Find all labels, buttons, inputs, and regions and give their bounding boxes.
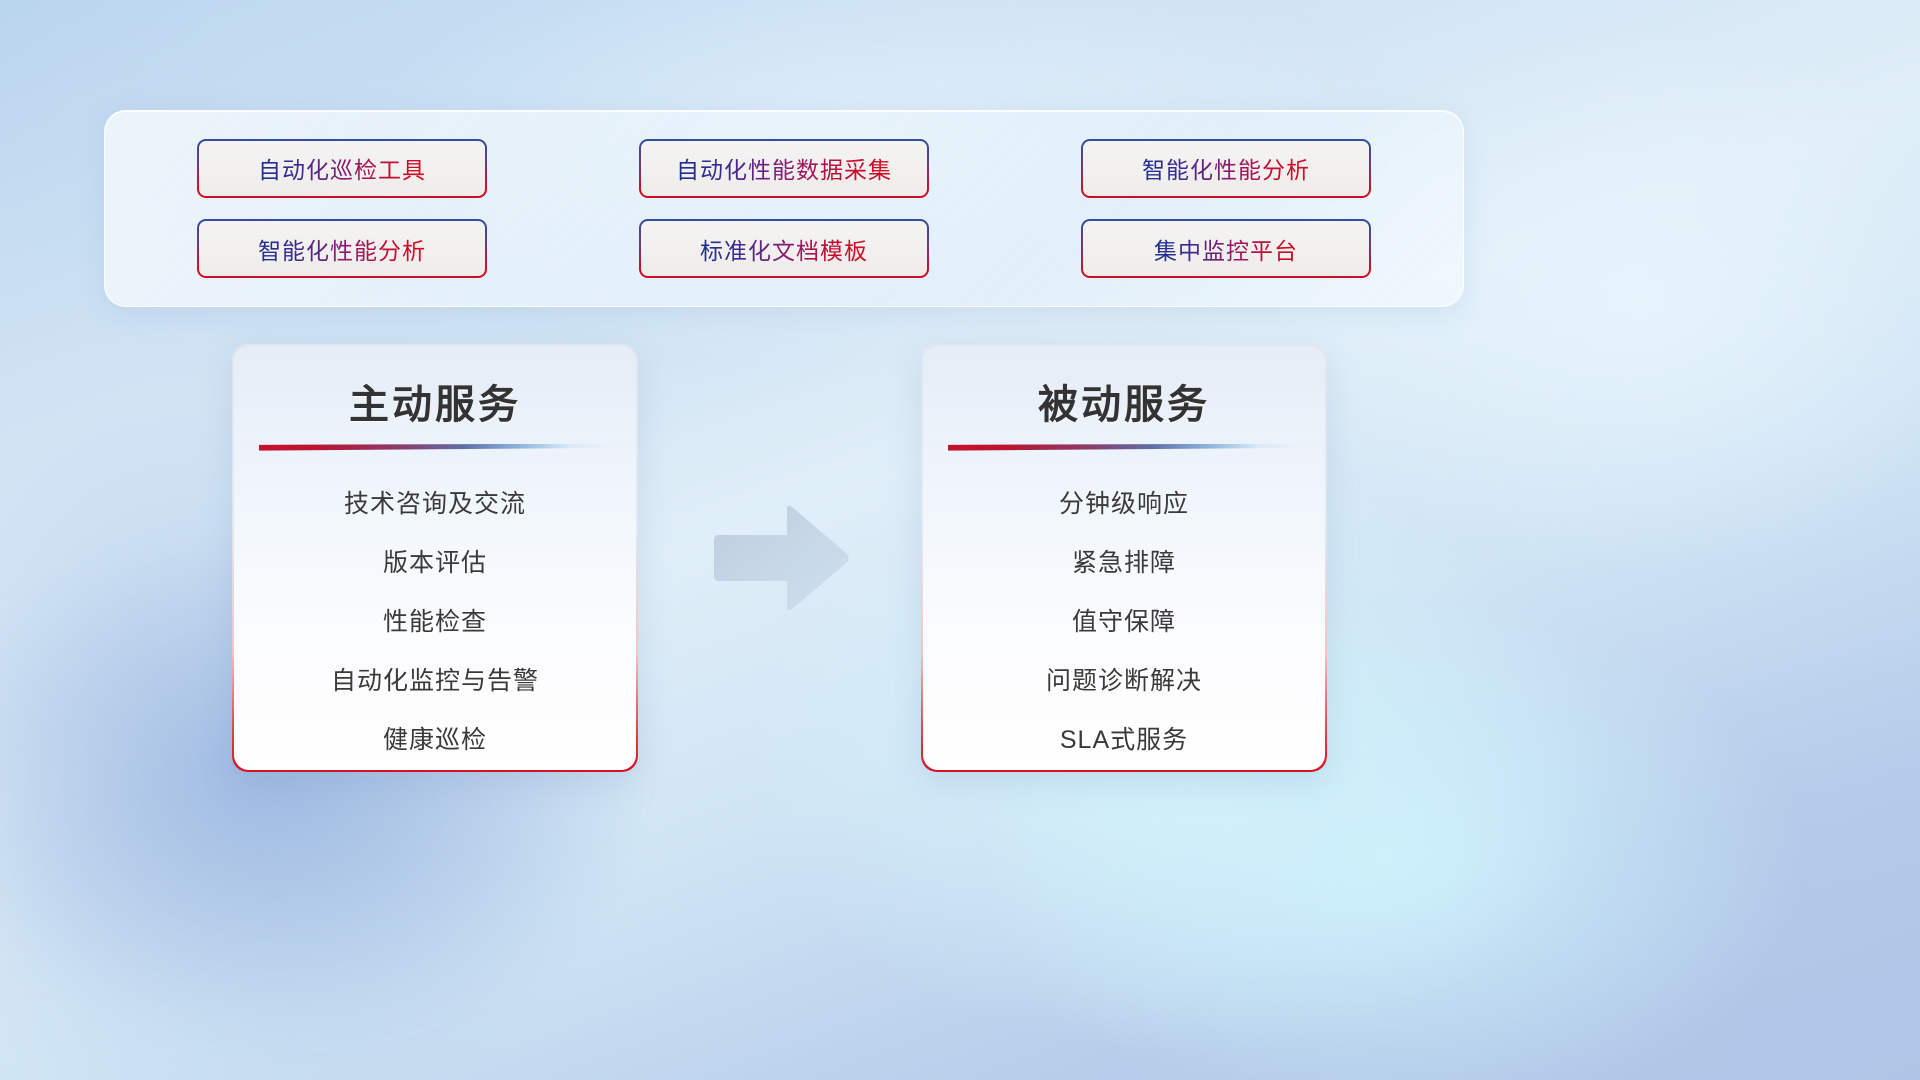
capability-pill-4-body: 智能化性能分析 [199,221,485,276]
service-card-passive-list: 分钟级响应 紧急排障 值守保障 问题诊断解决 SLA式服务 [923,475,1326,770]
list-item: 性能检查 [383,593,487,652]
list-item: SLA式服务 [1060,711,1188,770]
list-item: 版本评估 [383,534,487,593]
capability-pill-2-body: 自动化性能数据采集 [641,141,927,196]
capability-tags-panel: 自动化巡检工具 自动化性能数据采集 智能化性能分析 智能化性能分析 标准化文档模… [104,110,1464,307]
capability-pill-grid: 自动化巡检工具 自动化性能数据采集 智能化性能分析 智能化性能分析 标准化文档模… [105,111,1463,306]
capability-pill-4-label: 智能化性能分析 [258,232,426,266]
list-item: 技术咨询及交流 [344,475,526,534]
capability-pill-6-body: 集中监控平台 [1083,221,1369,276]
list-item: 值守保障 [1072,593,1176,652]
list-item: 问题诊断解决 [1046,652,1202,711]
service-card-active-title: 主动服务 [349,372,521,430]
capability-pill-5-label: 标准化文档模板 [700,232,868,266]
capability-pill-3-label: 智能化性能分析 [1142,151,1310,185]
capability-pill-6[interactable]: 集中监控平台 [1081,219,1371,278]
capability-pill-2[interactable]: 自动化性能数据采集 [639,139,929,198]
service-card-passive[interactable]: 被动服务 分钟级响应 紧急排障 值守保障 问题诊断解决 SLA式服务 [921,344,1327,772]
service-card-passive-divider [948,444,1300,448]
capability-pill-3-body: 智能化性能分析 [1083,141,1369,196]
capability-pill-5[interactable]: 标准化文档模板 [639,219,929,278]
capability-pill-3[interactable]: 智能化性能分析 [1081,139,1371,198]
service-card-passive-title: 被动服务 [1038,372,1210,430]
service-card-active-body: 主动服务 技术咨询及交流 版本评估 性能检查 自动化监控与告警 健康巡检 [234,346,637,771]
list-item: 分钟级响应 [1059,475,1189,534]
capability-pill-2-label: 自动化性能数据采集 [676,151,892,185]
capability-pill-1-body: 自动化巡检工具 [199,141,485,196]
capability-pill-6-label: 集中监控平台 [1154,232,1298,266]
list-item: 紧急排障 [1072,534,1176,593]
list-item: 自动化监控与告警 [331,652,539,711]
arrow-right-icon [713,503,851,613]
divider-bar [948,444,1300,451]
divider-bar [259,444,611,451]
capability-pill-5-body: 标准化文档模板 [641,221,927,276]
service-card-active-list: 技术咨询及交流 版本评估 性能检查 自动化监控与告警 健康巡检 [234,475,637,770]
service-card-passive-body: 被动服务 分钟级响应 紧急排障 值守保障 问题诊断解决 SLA式服务 [923,346,1326,771]
service-card-active[interactable]: 主动服务 技术咨询及交流 版本评估 性能检查 自动化监控与告警 健康巡检 [232,344,638,772]
capability-pill-1-label: 自动化巡检工具 [258,151,426,185]
capability-pill-4[interactable]: 智能化性能分析 [197,219,487,278]
service-card-active-divider [259,444,611,448]
capability-pill-1[interactable]: 自动化巡检工具 [197,139,487,198]
list-item: 健康巡检 [383,711,487,770]
